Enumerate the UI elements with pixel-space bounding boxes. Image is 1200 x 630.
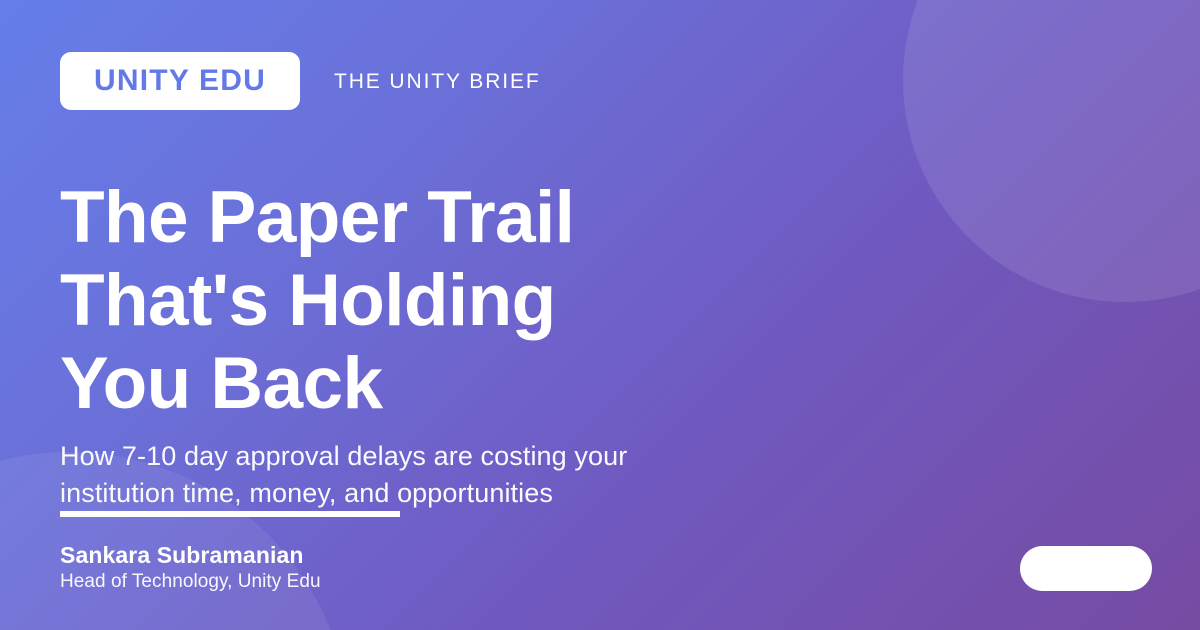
subtitle-line-1: How 7-10 day approval delays are costing… <box>60 438 760 475</box>
author-block: Sankara Subramanian Head of Technology, … <box>60 541 321 594</box>
author-name: Sankara Subramanian <box>60 541 321 569</box>
social-share-card: UNITY EDU THE UNITY BRIEF The Paper Trai… <box>0 0 1200 630</box>
accent-bar <box>60 511 400 517</box>
headline-line-2: That's Holding <box>60 259 820 342</box>
headline-line-1: The Paper Trail <box>60 176 820 259</box>
headline-line-3: You Back <box>60 342 820 425</box>
publication-label: THE UNITY BRIEF <box>334 71 541 92</box>
subtitle: How 7-10 day approval delays are costing… <box>60 438 760 512</box>
subtitle-line-2: institution time, money, and opportuniti… <box>60 475 760 512</box>
author-role: Head of Technology, Unity Edu <box>60 569 321 594</box>
headline: The Paper Trail That's Holding You Back <box>60 176 820 425</box>
card-header: UNITY EDU THE UNITY BRIEF <box>60 52 541 110</box>
unity-edu-logo-badge: UNITY EDU <box>60 52 300 110</box>
decorative-circle-top-right <box>903 0 1200 302</box>
logo-text: UNITY EDU <box>94 66 266 96</box>
corner-pill-placeholder <box>1020 546 1152 591</box>
